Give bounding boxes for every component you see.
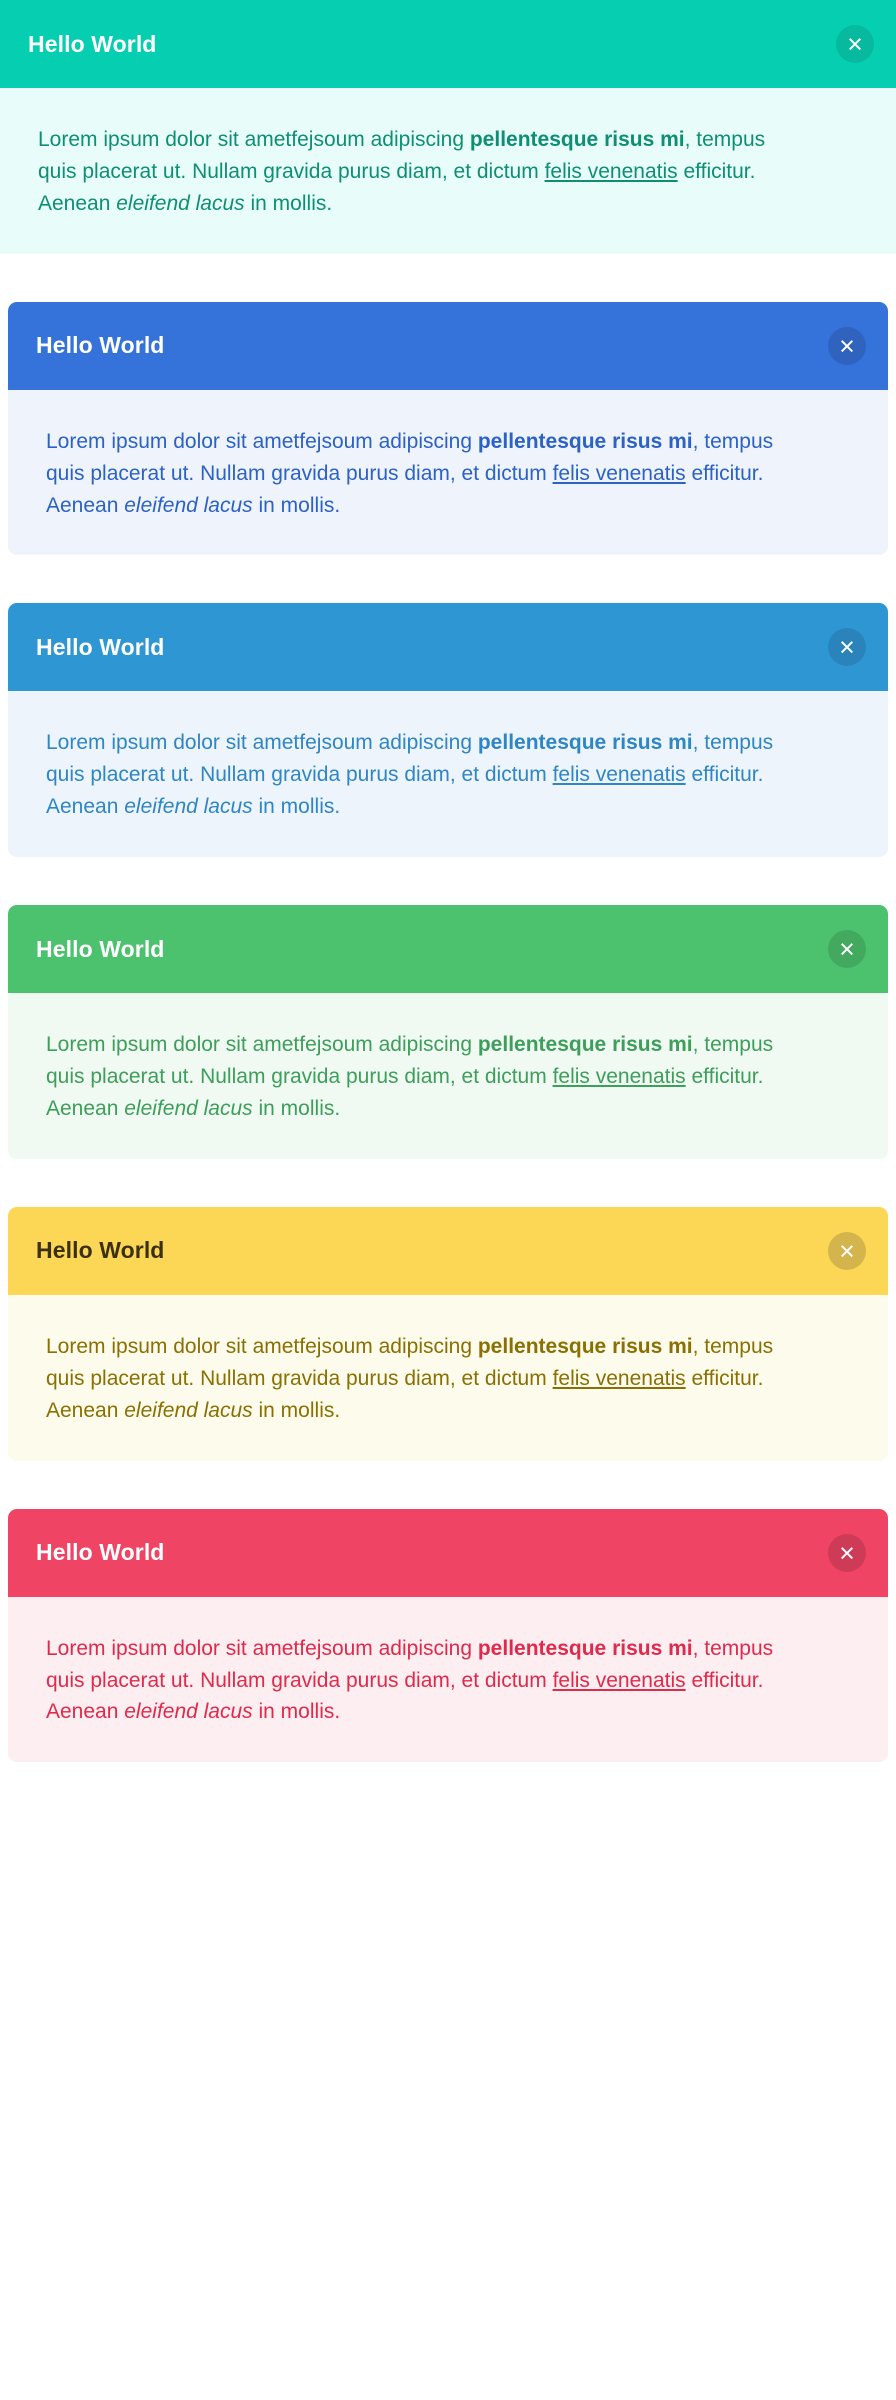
- alert-message: Lorem ipsum dolor sit ametfejsoum adipis…: [46, 426, 816, 522]
- alert-header: Hello World: [0, 0, 896, 88]
- message-italic: eleifend lacus: [116, 192, 244, 215]
- alert-header: Hello World: [8, 1207, 888, 1295]
- alert-message: Lorem ipsum dolor sit ametfejsoum adipis…: [46, 727, 816, 823]
- message-link[interactable]: felis venenatis: [553, 462, 686, 485]
- message-tail-b: in mollis.: [253, 795, 341, 818]
- message-bold: pellentesque risus mi: [478, 1637, 693, 1660]
- message-italic: eleifend lacus: [124, 1399, 252, 1422]
- close-icon: [839, 1243, 855, 1259]
- alert-gap: [0, 1461, 896, 1509]
- message-tail-b: in mollis.: [253, 494, 341, 517]
- alert-gap: [0, 555, 896, 603]
- message-link[interactable]: felis venenatis: [553, 1065, 686, 1088]
- alert-title: Hello World: [36, 1239, 164, 1262]
- alert-success: Hello WorldLorem ipsum dolor sit ametfej…: [8, 905, 888, 1159]
- alert-info: Hello WorldLorem ipsum dolor sit ametfej…: [8, 603, 888, 857]
- alert-danger: Hello WorldLorem ipsum dolor sit ametfej…: [8, 1509, 888, 1763]
- alert-gap: [0, 1159, 896, 1207]
- alert-gap: [0, 254, 896, 302]
- close-icon: [847, 36, 863, 52]
- alert-header: Hello World: [8, 603, 888, 691]
- alert-title: Hello World: [36, 1541, 164, 1564]
- message-link[interactable]: felis venenatis: [553, 763, 686, 786]
- alert-message: Lorem ipsum dolor sit ametfejsoum adipis…: [46, 1633, 816, 1729]
- message-italic: eleifend lacus: [124, 1700, 252, 1723]
- alert-primary: Hello WorldLorem ipsum dolor sit ametfej…: [8, 302, 888, 556]
- message-tail-b: in mollis.: [253, 1700, 341, 1723]
- close-button[interactable]: [828, 327, 866, 365]
- message-bold: pellentesque risus mi: [470, 128, 685, 151]
- close-icon: [839, 338, 855, 354]
- alert-body: Lorem ipsum dolor sit ametfejsoum adipis…: [8, 1295, 888, 1461]
- alert-title: Hello World: [36, 938, 164, 961]
- message-lead: Lorem ipsum dolor sit ametfejsoum adipis…: [38, 128, 470, 151]
- message-tail-b: in mollis.: [253, 1399, 341, 1422]
- message-tail-b: in mollis.: [245, 192, 333, 215]
- alert-message: Lorem ipsum dolor sit ametfejsoum adipis…: [46, 1029, 816, 1125]
- alert-message: Lorem ipsum dolor sit ametfejsoum adipis…: [38, 124, 808, 220]
- alert-body: Lorem ipsum dolor sit ametfejsoum adipis…: [0, 88, 896, 254]
- alert-message: Lorem ipsum dolor sit ametfejsoum adipis…: [46, 1331, 816, 1427]
- close-button[interactable]: [828, 1534, 866, 1572]
- alert-header: Hello World: [8, 302, 888, 390]
- close-button[interactable]: [828, 628, 866, 666]
- alert-teal: Hello WorldLorem ipsum dolor sit ametfej…: [0, 0, 896, 254]
- alert-header: Hello World: [8, 1509, 888, 1597]
- alert-title: Hello World: [36, 334, 164, 357]
- message-lead: Lorem ipsum dolor sit ametfejsoum adipis…: [46, 1637, 478, 1660]
- message-link[interactable]: felis venenatis: [553, 1669, 686, 1692]
- close-icon: [839, 941, 855, 957]
- message-link[interactable]: felis venenatis: [553, 1367, 686, 1390]
- alert-body: Lorem ipsum dolor sit ametfejsoum adipis…: [8, 691, 888, 857]
- message-lead: Lorem ipsum dolor sit ametfejsoum adipis…: [46, 1335, 478, 1358]
- message-tail-b: in mollis.: [253, 1097, 341, 1120]
- message-lead: Lorem ipsum dolor sit ametfejsoum adipis…: [46, 731, 478, 754]
- alert-stack: Hello WorldLorem ipsum dolor sit ametfej…: [0, 0, 896, 1762]
- alert-warning: Hello WorldLorem ipsum dolor sit ametfej…: [8, 1207, 888, 1461]
- close-icon: [839, 639, 855, 655]
- alert-body: Lorem ipsum dolor sit ametfejsoum adipis…: [8, 390, 888, 556]
- message-italic: eleifend lacus: [124, 494, 252, 517]
- alert-body: Lorem ipsum dolor sit ametfejsoum adipis…: [8, 993, 888, 1159]
- message-bold: pellentesque risus mi: [478, 731, 693, 754]
- close-button[interactable]: [836, 25, 874, 63]
- message-italic: eleifend lacus: [124, 1097, 252, 1120]
- message-bold: pellentesque risus mi: [478, 1033, 693, 1056]
- close-button[interactable]: [828, 1232, 866, 1270]
- alert-header: Hello World: [8, 905, 888, 993]
- alert-body: Lorem ipsum dolor sit ametfejsoum adipis…: [8, 1597, 888, 1763]
- alert-title: Hello World: [36, 636, 164, 659]
- alert-gap: [0, 857, 896, 905]
- message-bold: pellentesque risus mi: [478, 1335, 693, 1358]
- close-icon: [839, 1545, 855, 1561]
- message-link[interactable]: felis venenatis: [545, 160, 678, 183]
- message-lead: Lorem ipsum dolor sit ametfejsoum adipis…: [46, 430, 478, 453]
- message-lead: Lorem ipsum dolor sit ametfejsoum adipis…: [46, 1033, 478, 1056]
- message-bold: pellentesque risus mi: [478, 430, 693, 453]
- alert-title: Hello World: [28, 33, 156, 56]
- close-button[interactable]: [828, 930, 866, 968]
- message-italic: eleifend lacus: [124, 795, 252, 818]
